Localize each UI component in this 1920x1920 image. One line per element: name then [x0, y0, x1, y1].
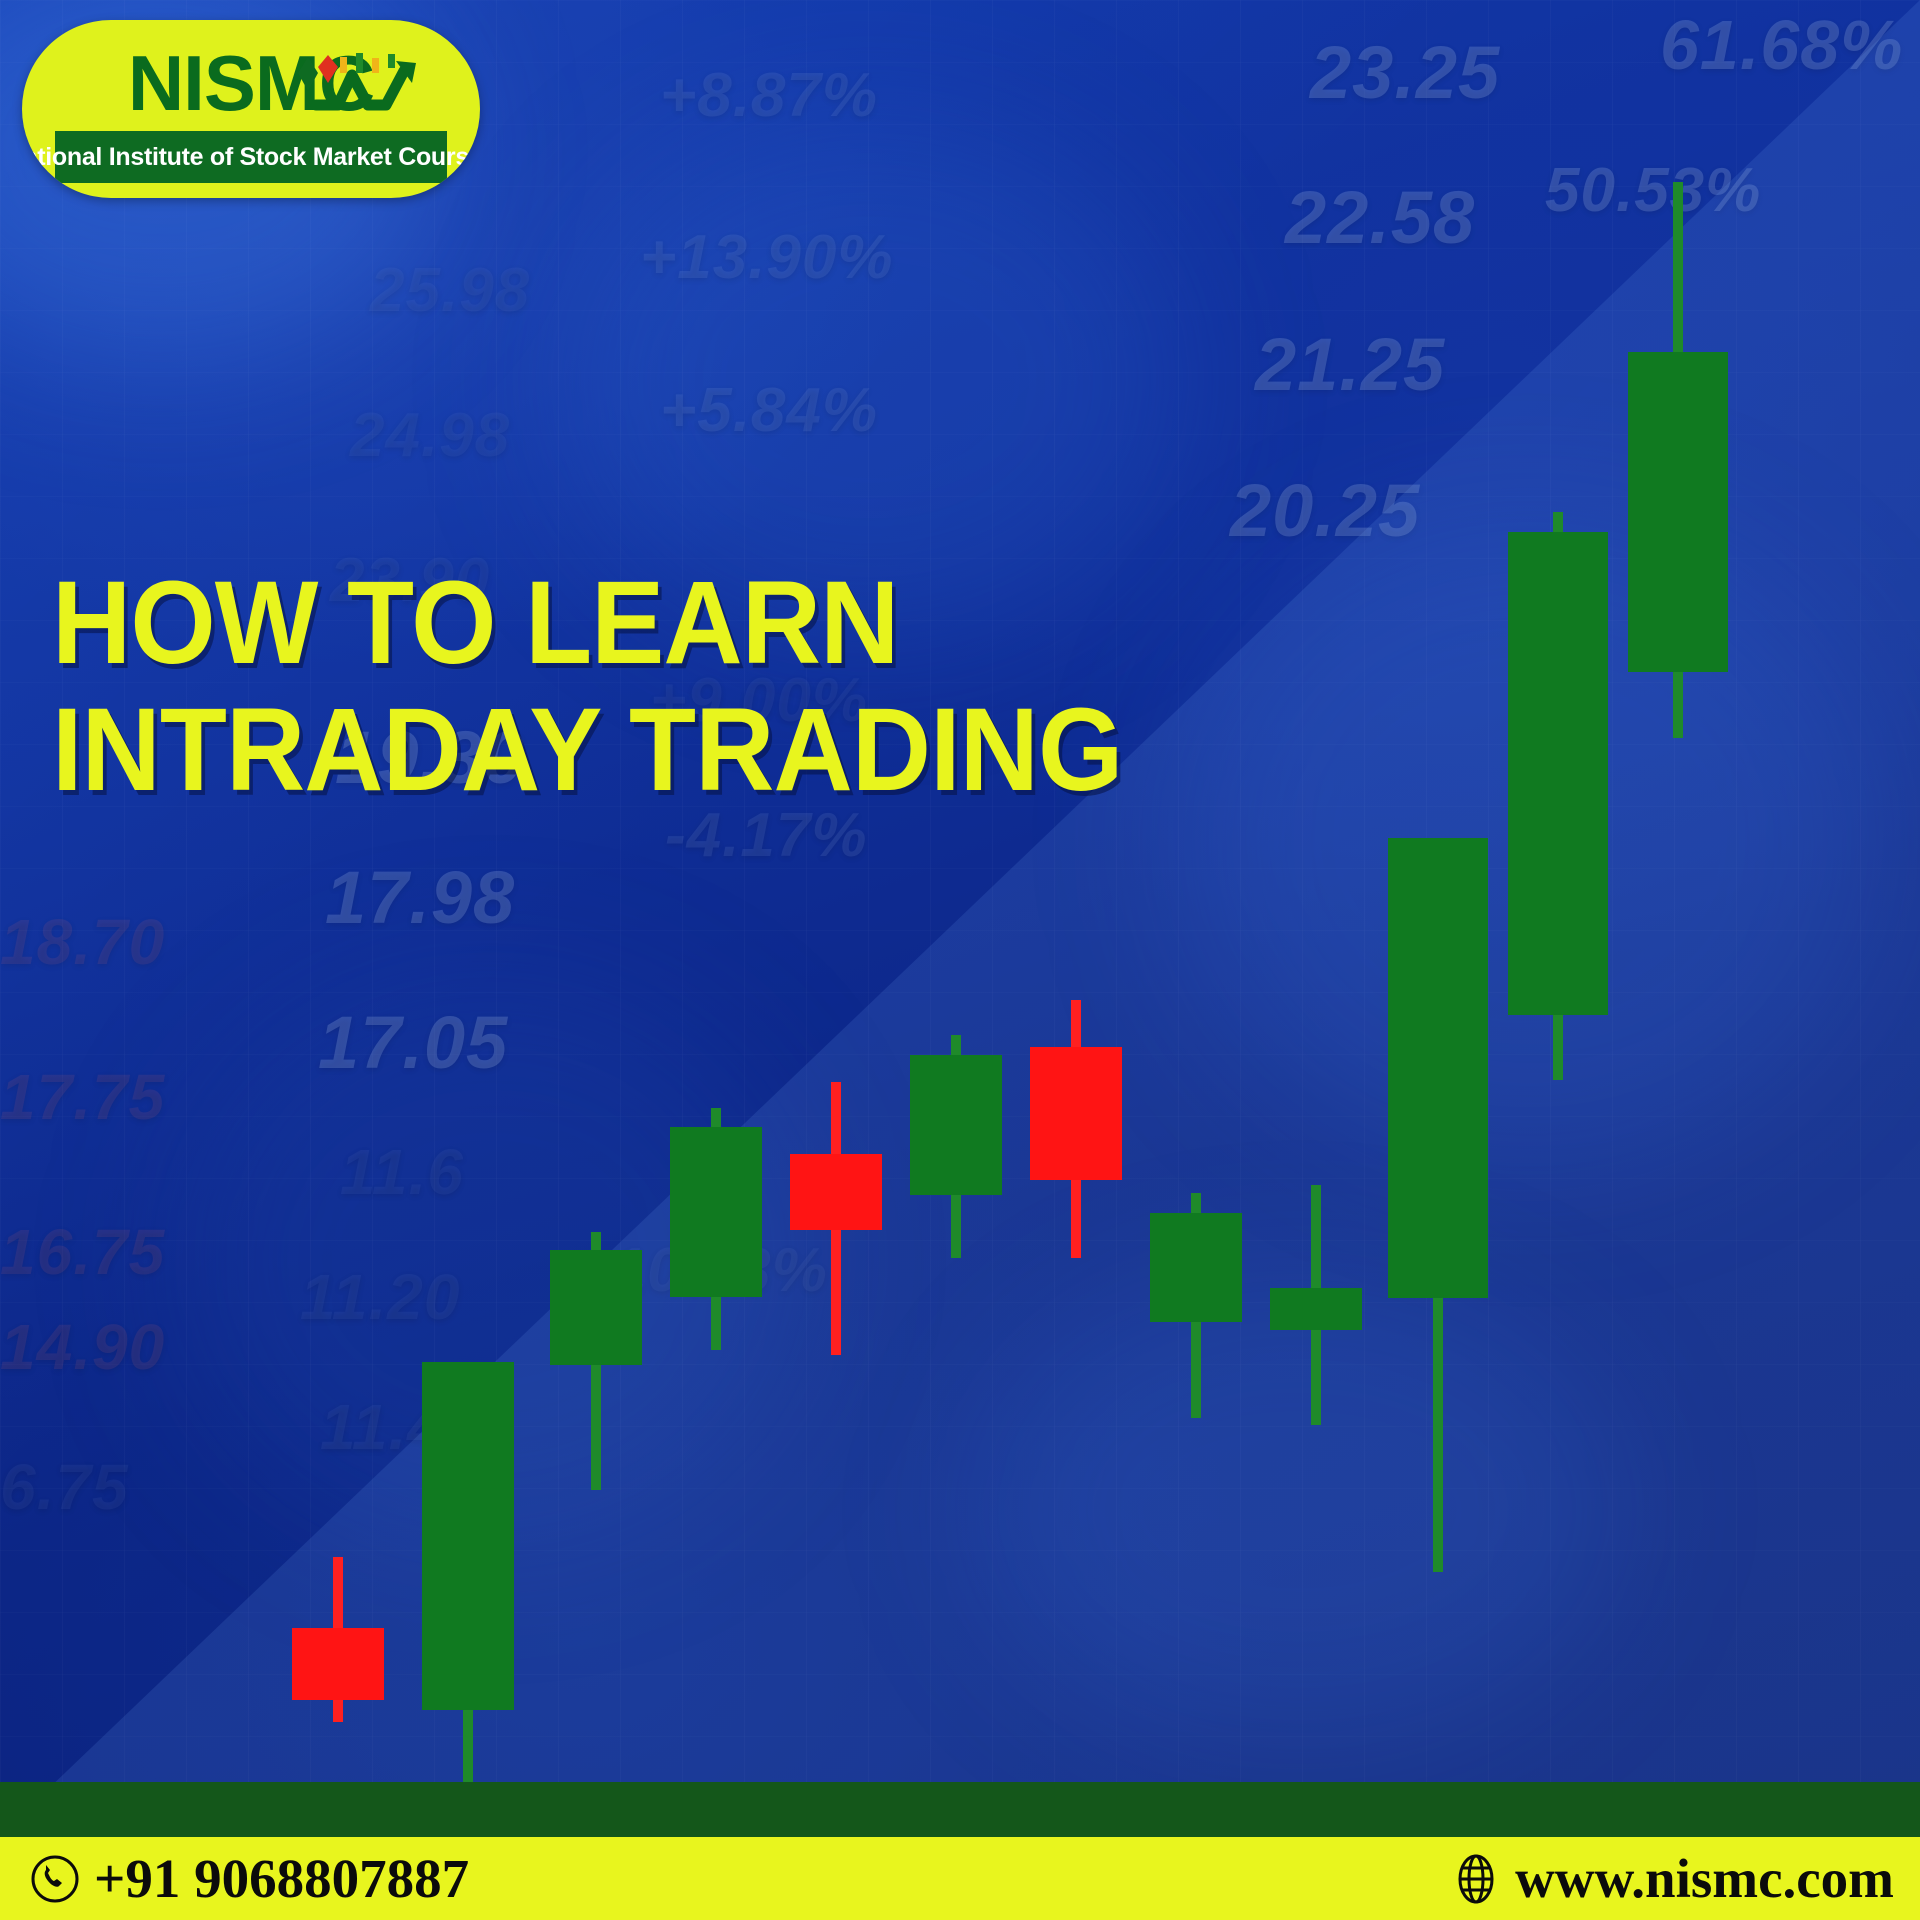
candlestick-body — [1030, 1047, 1122, 1180]
logo-tagline: National Institute of Stock Market Cours… — [22, 143, 480, 172]
footer-phone-text: +91 9068807887 — [94, 1847, 469, 1910]
logo-wordmark-row: NISMC — [22, 35, 480, 131]
candlestick — [910, 1035, 1002, 1258]
candlestick — [1388, 838, 1488, 1572]
candlestick-body — [910, 1055, 1002, 1195]
diamond-accent-icon — [288, 51, 344, 97]
candlestick — [422, 1362, 514, 1790]
footer-green-strip — [0, 1782, 1920, 1837]
headline-block: HOW TO LEARN INTRADAY TRADING — [52, 560, 1212, 815]
footer-website[interactable]: www.nismc.com — [1451, 1847, 1894, 1910]
candlestick — [292, 1557, 384, 1722]
candlestick — [1030, 1000, 1122, 1258]
candlestick-body — [1388, 838, 1488, 1298]
candlestick-body — [1508, 532, 1608, 1015]
headline-line-2: INTRADAY TRADING — [52, 687, 1131, 814]
candlestick-body — [1628, 352, 1728, 672]
candlestick-body — [550, 1250, 642, 1365]
candlestick — [550, 1232, 642, 1490]
headline-line-1: HOW TO LEARN — [52, 560, 1131, 687]
brand-logo[interactable]: NISMC National Institute of Stock Market… — [22, 20, 480, 198]
candlestick-body — [292, 1628, 384, 1700]
poster-canvas: 23.2522.5821.2520.2519.3017.9817.0561.68… — [0, 0, 1920, 1920]
logo-tagline-bar: National Institute of Stock Market Cours… — [55, 131, 447, 183]
candlestick-chart — [0, 0, 1920, 1835]
footer-website-text: www.nismc.com — [1515, 1847, 1894, 1910]
candlestick-body — [1150, 1213, 1242, 1322]
candlestick — [1270, 1185, 1362, 1425]
globe-icon — [1451, 1854, 1501, 1904]
candlestick — [1628, 182, 1728, 738]
phone-icon — [30, 1854, 80, 1904]
candlestick-body — [422, 1362, 514, 1710]
candlestick-body — [670, 1127, 762, 1297]
candlestick — [1508, 512, 1608, 1080]
footer-bar: +91 9068807887 www.nismc.com — [0, 1837, 1920, 1920]
candlestick-body — [790, 1154, 882, 1230]
candlestick — [790, 1082, 882, 1355]
footer-phone[interactable]: +91 9068807887 — [30, 1847, 469, 1910]
candlestick — [1150, 1193, 1242, 1418]
candlestick — [670, 1108, 762, 1350]
candlestick-body — [1270, 1288, 1362, 1330]
